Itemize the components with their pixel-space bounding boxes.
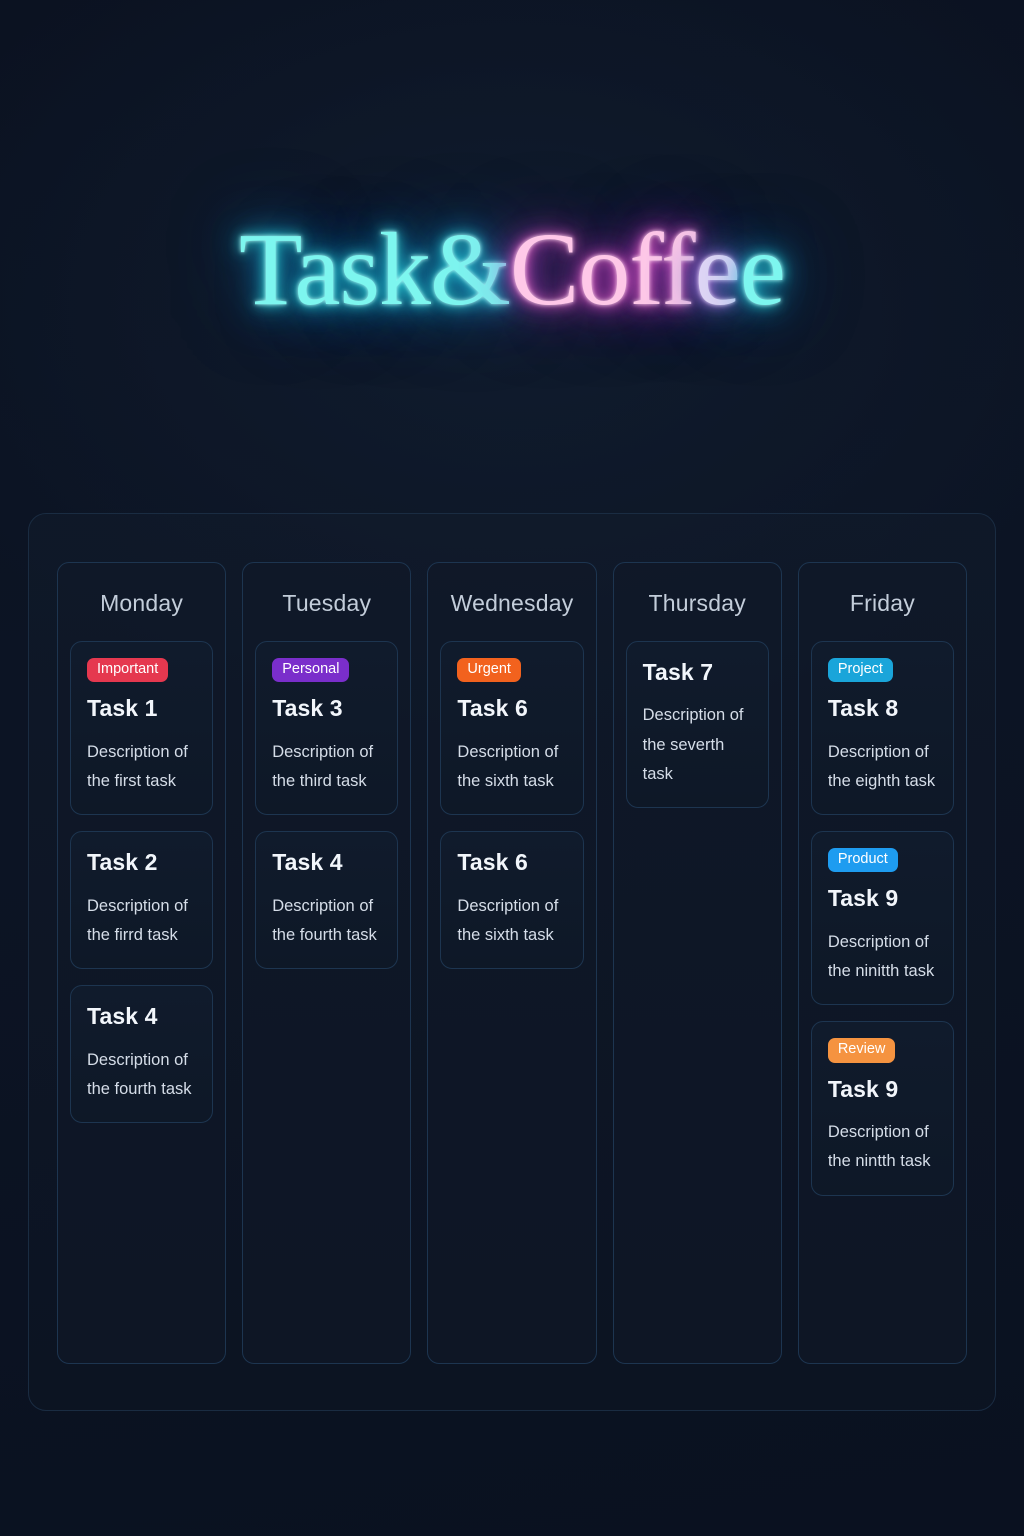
task-title: Task 7 — [643, 660, 752, 685]
task-card[interactable]: Task 4Description of the fourth task — [70, 985, 213, 1123]
task-title: Task 4 — [87, 1004, 196, 1029]
task-badge[interactable]: Important — [87, 658, 168, 682]
task-title: Task 4 — [272, 850, 381, 875]
task-description: Description of the nintth task — [828, 1118, 937, 1177]
task-card-stack: ProjectTask 8Description of the eighth t… — [811, 641, 954, 1196]
day-column-header: Friday — [811, 577, 954, 641]
day-column-wednesday[interactable]: WednesdayUrgentTask 6Description of the … — [427, 562, 596, 1364]
day-column-header: Wednesday — [440, 577, 583, 641]
task-description: Description of the sixth task — [457, 892, 566, 951]
task-title: Task 6 — [457, 696, 566, 721]
task-board-panel: MondayImportantTask 1Description of the … — [28, 513, 996, 1411]
task-description: Description of the severth task — [643, 701, 752, 789]
task-card[interactable]: ProductTask 9Description of the ninitth … — [811, 831, 954, 1005]
task-card[interactable]: Task 6Description of the sixth task — [440, 831, 583, 969]
task-card[interactable]: Task 2Description of the firrd task — [70, 831, 213, 969]
day-column-header: Thursday — [626, 577, 769, 641]
task-title: Task 1 — [87, 696, 196, 721]
task-description: Description of the third task — [272, 738, 381, 797]
task-card-stack: PersonalTask 3Description of the third t… — [255, 641, 398, 969]
task-card-stack: ImportantTask 1Description of the first … — [70, 641, 213, 1123]
title-segment-1: Coff — [510, 212, 695, 327]
task-description: Description of the fourth task — [87, 1046, 196, 1105]
page-title: Task&Coffee — [239, 218, 785, 322]
day-column-friday[interactable]: FridayProjectTask 8Description of the ei… — [798, 562, 967, 1364]
day-column-header: Monday — [70, 577, 213, 641]
task-badge[interactable]: Review — [828, 1038, 896, 1062]
task-description: Description of the eighth task — [828, 738, 937, 797]
task-badge[interactable]: Personal — [272, 658, 349, 682]
task-description: Description of the fourth task — [272, 892, 381, 951]
task-card-stack: UrgentTask 6Description of the sixth tas… — [440, 641, 583, 969]
task-card[interactable]: ImportantTask 1Description of the first … — [70, 641, 213, 815]
task-card[interactable]: Task 4Description of the fourth task — [255, 831, 398, 969]
task-title: Task 2 — [87, 850, 196, 875]
task-description: Description of the first task — [87, 738, 196, 797]
task-card-stack: Task 7Description of the severth task — [626, 641, 769, 808]
task-description: Description of the ninitth task — [828, 928, 937, 987]
title-segment-2: e — [695, 212, 740, 327]
task-badge[interactable]: Product — [828, 848, 898, 872]
task-card[interactable]: ReviewTask 9Description of the nintth ta… — [811, 1021, 954, 1195]
day-columns-container: MondayImportantTask 1Description of the … — [57, 562, 967, 1364]
title-segment-3: e — [740, 212, 785, 327]
app-header: Task&Coffee — [0, 0, 1024, 500]
task-title: Task 9 — [828, 886, 937, 911]
day-column-thursday[interactable]: ThursdayTask 7Description of the severth… — [613, 562, 782, 1364]
day-column-tuesday[interactable]: TuesdayPersonalTask 3Description of the … — [242, 562, 411, 1364]
task-title: Task 6 — [457, 850, 566, 875]
task-card[interactable]: ProjectTask 8Description of the eighth t… — [811, 641, 954, 815]
task-badge[interactable]: Project — [828, 658, 893, 682]
title-segment-0: Task& — [239, 212, 510, 327]
task-card[interactable]: UrgentTask 6Description of the sixth tas… — [440, 641, 583, 815]
day-column-monday[interactable]: MondayImportantTask 1Description of the … — [57, 562, 226, 1364]
task-card[interactable]: PersonalTask 3Description of the third t… — [255, 641, 398, 815]
task-description: Description of the firrd task — [87, 892, 196, 951]
day-column-header: Tuesday — [255, 577, 398, 641]
task-card[interactable]: Task 7Description of the severth task — [626, 641, 769, 808]
task-title: Task 3 — [272, 696, 381, 721]
task-title: Task 9 — [828, 1077, 937, 1102]
task-description: Description of the sixth task — [457, 738, 566, 797]
task-title: Task 8 — [828, 696, 937, 721]
task-badge[interactable]: Urgent — [457, 658, 521, 682]
